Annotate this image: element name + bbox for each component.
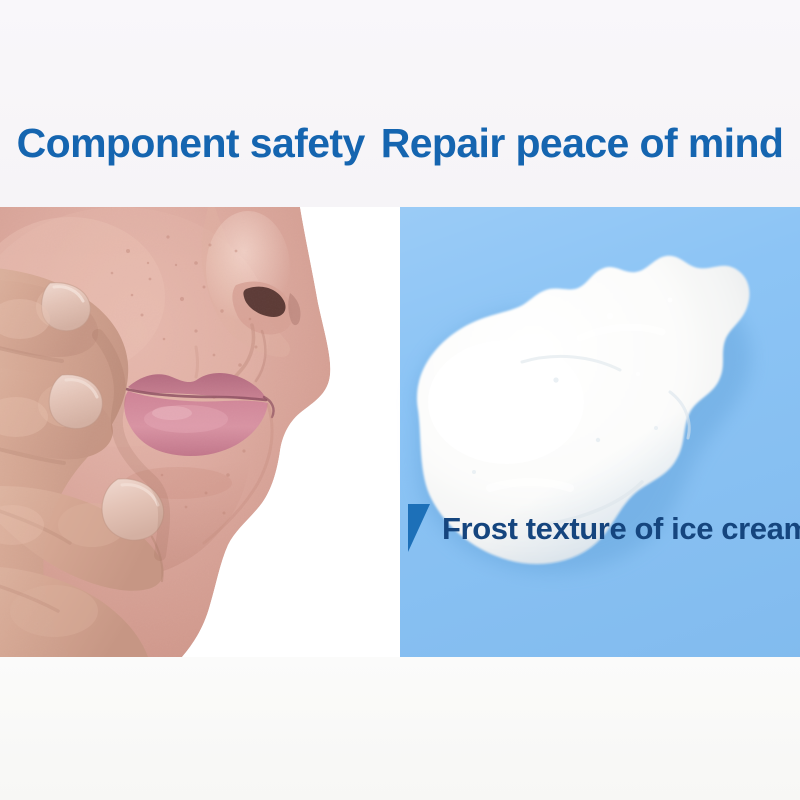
headline-part-1: Component safety (17, 120, 365, 166)
photo-band: Frost texture of ice cream Moisturizing … (0, 207, 800, 657)
feature-bullet-label: Moisturizing repair (437, 656, 637, 657)
feature-heading: Frost texture of ice cream (408, 504, 800, 552)
page-title: Component safetyRepair peace of mind (0, 123, 800, 164)
feature-heading-label: Frost texture of ice cream (442, 513, 800, 544)
blue-flag-triangle-icon (408, 504, 430, 552)
headline-part-2: Repair peace of mind (381, 120, 784, 166)
product-feature-banner: Component safetyRepair peace of mind (0, 0, 800, 800)
face-photo (0, 207, 400, 657)
bottom-white-area (0, 657, 800, 800)
feature-bullet-moisturizing: Moisturizing repair (407, 656, 637, 657)
cream-swatch-image (370, 242, 800, 642)
top-white-area (0, 0, 800, 207)
